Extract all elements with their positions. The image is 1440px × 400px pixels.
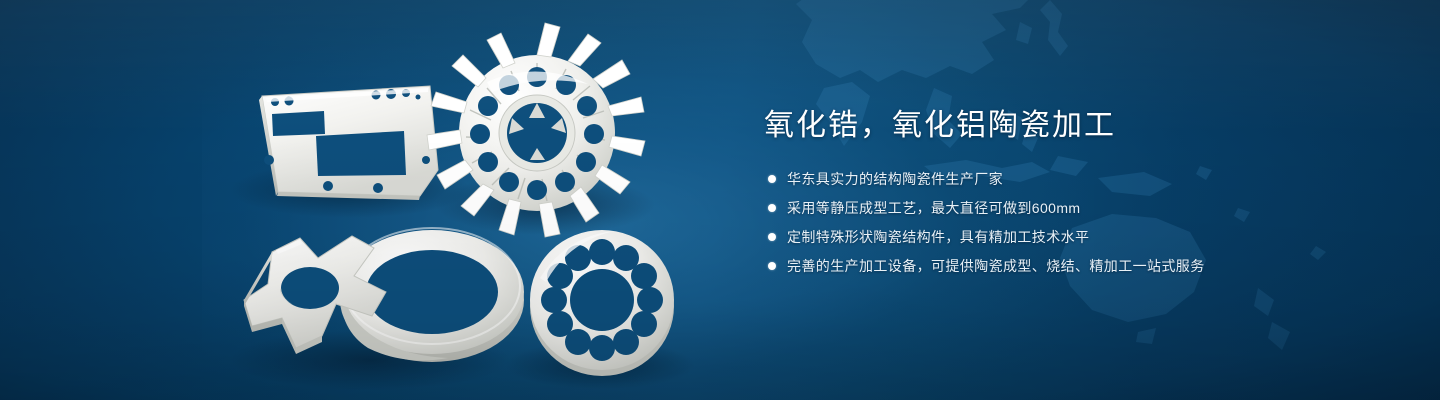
feature-text: 定制特殊形状陶瓷结构件，具有精加工技术水平 — [787, 226, 1089, 248]
bullet-dot-icon — [768, 233, 776, 241]
banner-headline: 氧化锆，氧化铝陶瓷加工 — [764, 106, 1364, 146]
feature-item-1: 华东具实力的结构陶瓷件生产厂家 — [764, 168, 1364, 190]
bullet-dot-icon — [768, 175, 776, 183]
bullet-dot-icon — [768, 204, 776, 212]
hero-banner: 氧化锆，氧化铝陶瓷加工 华东具实力的结构陶瓷件生产厂家 采用等静压成型工艺，最大… — [0, 0, 1440, 400]
banner-copy: 氧化锆，氧化铝陶瓷加工 华东具实力的结构陶瓷件生产厂家 采用等静压成型工艺，最大… — [764, 106, 1364, 284]
feature-item-3: 定制特殊形状陶瓷结构件，具有精加工技术水平 — [764, 226, 1364, 248]
feature-text: 采用等静压成型工艺，最大直径可做到600mm — [787, 197, 1080, 219]
bullet-dot-icon — [768, 262, 776, 270]
feature-list: 华东具实力的结构陶瓷件生产厂家 采用等静压成型工艺，最大直径可做到600mm 定… — [764, 168, 1364, 277]
feature-text: 完善的生产加工设备，可提供陶瓷成型、烧结、精加工一站式服务 — [787, 255, 1205, 277]
feature-text: 华东具实力的结构陶瓷件生产厂家 — [787, 168, 1003, 190]
feature-item-2: 采用等静压成型工艺，最大直径可做到600mm — [764, 197, 1364, 219]
feature-item-4: 完善的生产加工设备，可提供陶瓷成型、烧结、精加工一站式服务 — [764, 255, 1364, 277]
